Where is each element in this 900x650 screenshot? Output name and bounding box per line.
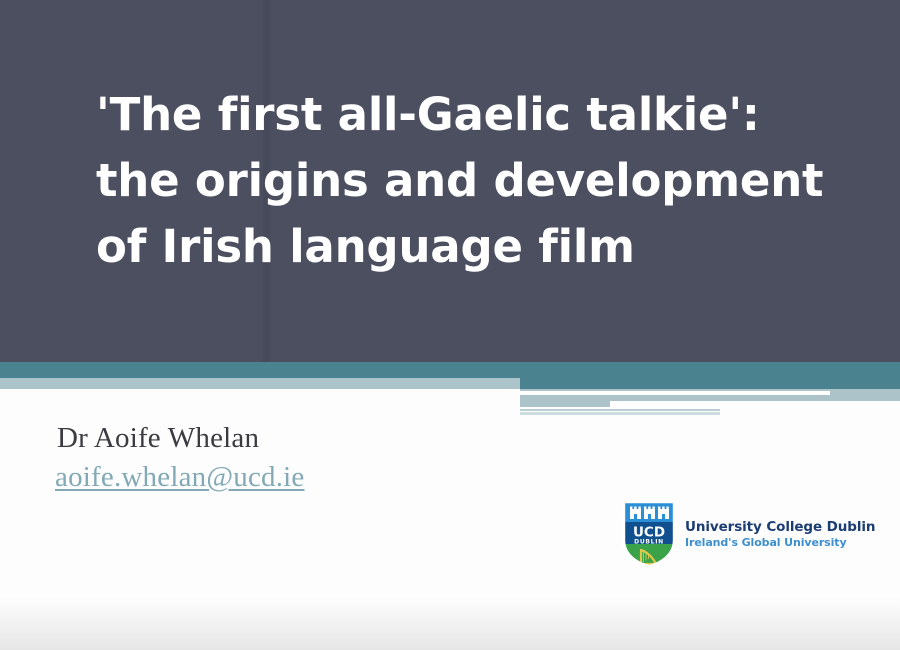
title-line-2: the origins and development (96, 148, 856, 214)
decorative-band-white-right-1 (520, 391, 830, 395)
title-line-1: 'The first all-Gaelic talkie': (96, 82, 856, 148)
author-email-link[interactable]: aoife.whelan@ucd.ie (55, 461, 305, 494)
decorative-band-teal (0, 362, 900, 378)
decorative-band-line-2 (520, 412, 720, 415)
presentation-slide: 'The first all-Gaelic talkie': the origi… (0, 0, 900, 650)
decorative-band-line-1 (520, 409, 720, 411)
bottom-edge-fade (0, 598, 900, 650)
ucd-logo: UCD DUBLIN University College Dublin Ire… (622, 498, 837, 570)
decorative-band-steel-left (0, 378, 520, 389)
ucd-logo-text: University College Dublin Ireland's Glob… (685, 518, 875, 550)
ucd-logo-tagline: Ireland's Global University (685, 537, 875, 550)
decorative-band-teal-right (520, 378, 900, 389)
shield-dublin-text: DUBLIN (634, 539, 664, 546)
author-name: Dr Aoife Whelan (57, 422, 259, 455)
title-line-3: of Irish language film (96, 214, 856, 280)
ucd-logo-name: University College Dublin (685, 520, 875, 536)
ucd-shield-icon: UCD DUBLIN (622, 500, 676, 568)
slide-title: 'The first all-Gaelic talkie': the origi… (96, 82, 856, 280)
decorative-band-white-right-2 (610, 401, 900, 407)
